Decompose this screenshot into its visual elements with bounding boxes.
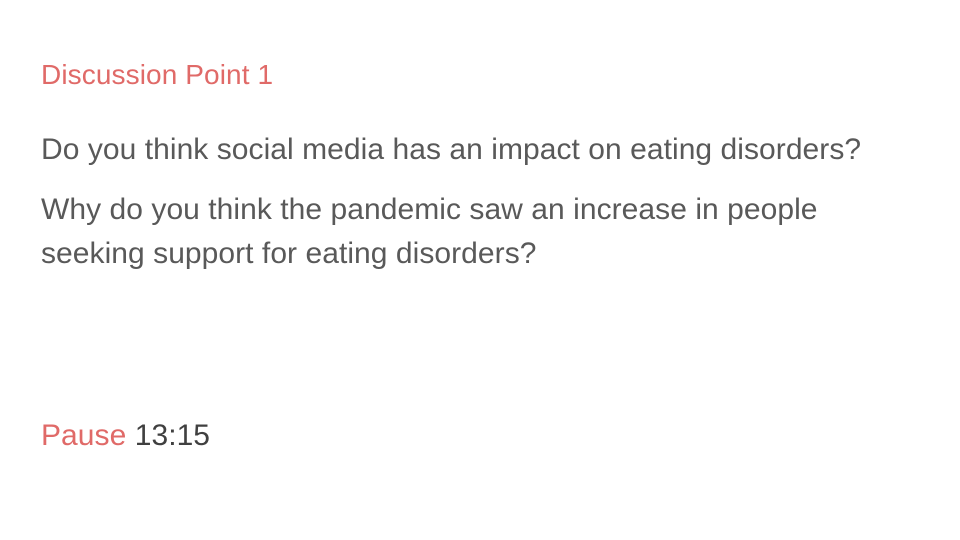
discussion-question-2: Why do you think the pandemic saw an inc… xyxy=(41,188,925,276)
page-title: Discussion Point 1 xyxy=(41,57,921,93)
slide-canvas: Discussion Point 1 Do you think social m… xyxy=(0,0,960,540)
pause-timer-line: Pause 13:15 xyxy=(41,414,210,458)
discussion-question-1: Do you think social media has an impact … xyxy=(41,128,925,172)
pause-duration-value: 13:15 xyxy=(135,419,210,452)
pause-label: Pause xyxy=(41,419,126,452)
pause-separator xyxy=(126,419,134,452)
slide-body-text: Do you think social media has an impact … xyxy=(41,128,925,276)
